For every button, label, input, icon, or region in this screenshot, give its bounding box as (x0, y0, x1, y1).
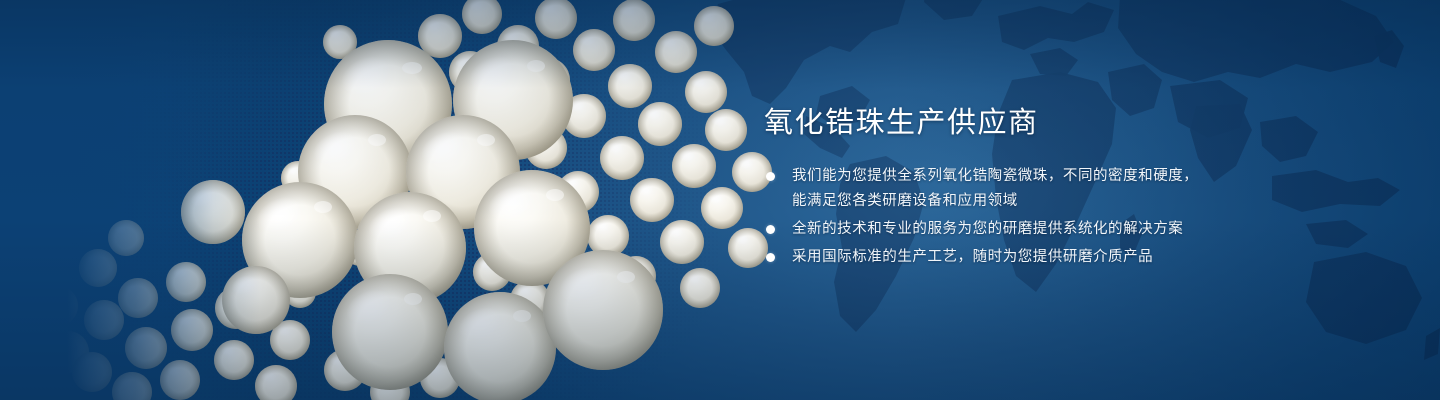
hero-banner: 氧化锆珠生产供应商 我们能为您提供全系列氧化锆陶瓷微珠，不同的密度和硬度， 能满… (0, 0, 1440, 400)
bullet-dot-icon (766, 172, 775, 181)
bullet-dot-icon (766, 225, 775, 234)
list-item-line-2: 能满足您各类研磨设备和应用领域 (792, 189, 1324, 214)
list-item-line-1: 全新的技术和专业的服务为您的研磨提供系统化的解决方案 (792, 221, 1183, 237)
list-item-line-1: 采用国际标准的生产工艺，随时为您提供研磨介质产品 (792, 249, 1153, 265)
list-item-line-1: 我们能为您提供全系列氧化锆陶瓷微珠，不同的密度和硬度， (792, 168, 1198, 184)
feature-list: 我们能为您提供全系列氧化锆陶瓷微珠，不同的密度和硬度， 能满足您各类研磨设备和应… (764, 164, 1324, 270)
bullet-dot-icon (766, 253, 775, 262)
list-item-text: 我们能为您提供全系列氧化锆陶瓷微珠，不同的密度和硬度， 能满足您各类研磨设备和应… (792, 164, 1324, 214)
list-item: 采用国际标准的生产工艺，随时为您提供研磨介质产品 (764, 245, 1324, 270)
list-item-text: 采用国际标准的生产工艺，随时为您提供研磨介质产品 (792, 245, 1324, 270)
banner-copy: 氧化锆珠生产供应商 我们能为您提供全系列氧化锆陶瓷微珠，不同的密度和硬度， 能满… (764, 104, 1324, 273)
list-item-text: 全新的技术和专业的服务为您的研磨提供系统化的解决方案 (792, 217, 1324, 242)
list-item: 全新的技术和专业的服务为您的研磨提供系统化的解决方案 (764, 217, 1324, 242)
page-title: 氧化锆珠生产供应商 (764, 104, 1324, 142)
list-item: 我们能为您提供全系列氧化锆陶瓷微珠，不同的密度和硬度， 能满足您各类研磨设备和应… (764, 164, 1324, 214)
